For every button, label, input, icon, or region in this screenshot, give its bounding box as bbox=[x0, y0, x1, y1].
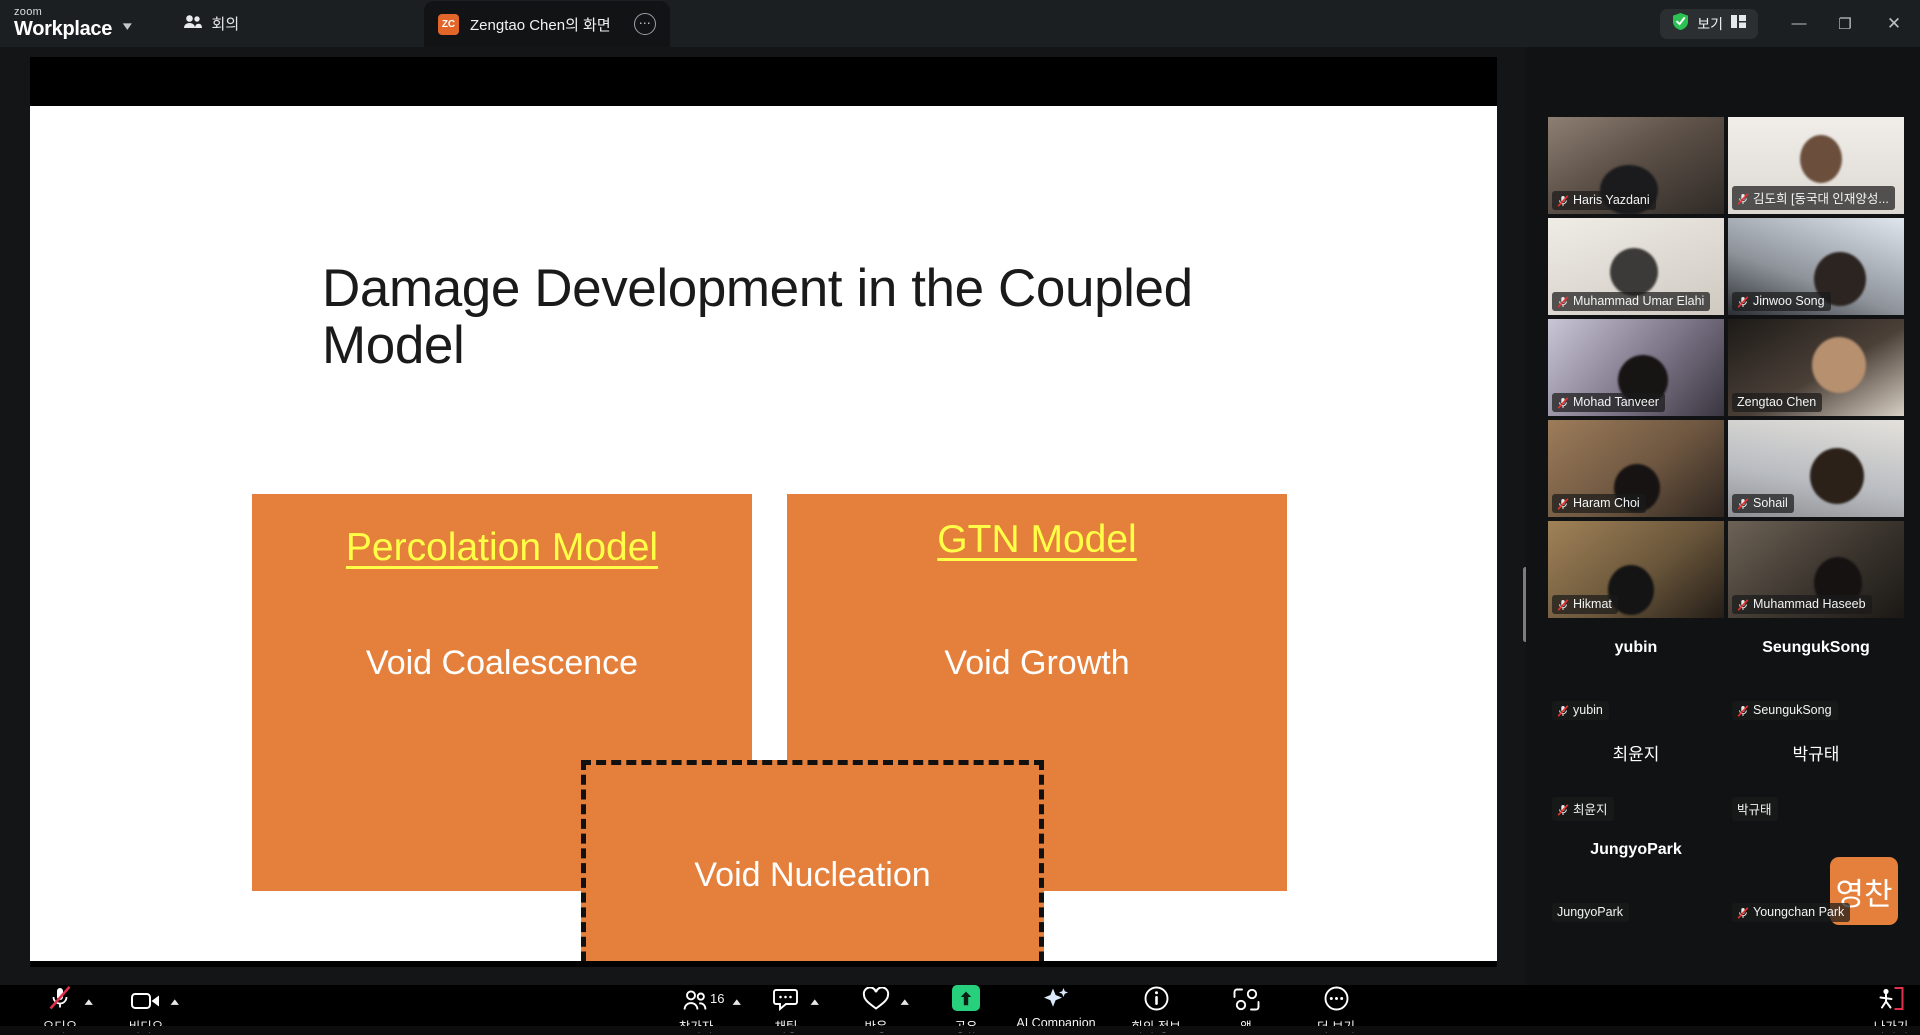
mic-muted-icon bbox=[1737, 295, 1749, 307]
toolbar-audio-chevron-up-icon[interactable]: ▴ bbox=[85, 995, 93, 1008]
participant-name: 박규태 bbox=[1737, 799, 1772, 818]
no-video-participant[interactable]: 영찬Youngchan Park bbox=[1728, 829, 1904, 926]
participant-name-badge: Muhammad Umar Elahi bbox=[1552, 292, 1710, 311]
mic-muted-icon bbox=[1737, 598, 1749, 610]
leave-door-icon bbox=[1877, 987, 1905, 1011]
participant-name: 최윤지 bbox=[1573, 799, 1608, 818]
mic-muted-icon bbox=[1737, 704, 1749, 716]
participant-name: 김도희 [동국대 인재양성... bbox=[1753, 188, 1889, 207]
video-tile[interactable]: Mohad Tanveer bbox=[1548, 319, 1724, 416]
toolbar-ai-companion-button[interactable]: AI Companion bbox=[1010, 987, 1102, 1030]
participant-silhouette bbox=[1610, 248, 1658, 296]
participant-name: Muhammad Umar Elahi bbox=[1573, 294, 1704, 308]
window-controls-group: 보기 — ❐ ✕ bbox=[1660, 0, 1920, 47]
mic-muted-icon bbox=[1557, 598, 1569, 610]
info-icon bbox=[1144, 987, 1169, 1011]
participant-name-badge: 최윤지 bbox=[1552, 797, 1614, 821]
participant-name-badge: Hikmat bbox=[1552, 595, 1618, 614]
participant-name-badge: Haram Choi bbox=[1552, 494, 1646, 513]
os-taskbar bbox=[0, 1026, 1920, 1032]
apps-icon bbox=[1233, 987, 1260, 1011]
percolation-model-heading: Percolation Model bbox=[346, 526, 658, 570]
view-label: 보기 bbox=[1697, 14, 1723, 34]
video-tile[interactable]: Hikmat bbox=[1548, 521, 1724, 618]
video-tile[interactable]: Muhammad Umar Elahi bbox=[1548, 218, 1724, 315]
video-tile[interactable]: Sohail bbox=[1728, 420, 1904, 517]
participant-name: Youngchan Park bbox=[1753, 905, 1844, 919]
video-tile[interactable]: 김도희 [동국대 인재양성... bbox=[1728, 117, 1904, 214]
participant-display-name: 박규태 bbox=[1793, 740, 1840, 765]
participant-name-badge: Youngchan Park bbox=[1732, 903, 1850, 922]
participant-name: Zengtao Chen bbox=[1737, 395, 1816, 409]
video-tile[interactable]: Muhammad Haseeb bbox=[1728, 521, 1904, 618]
no-video-participant[interactable]: yubinyubin bbox=[1548, 627, 1724, 724]
participant-name: Mohad Tanveer bbox=[1573, 395, 1659, 409]
participant-name-badge: 김도희 [동국대 인재양성... bbox=[1732, 186, 1895, 210]
share-screen-icon bbox=[952, 985, 980, 1011]
mic-muted-icon bbox=[1737, 497, 1749, 509]
participant-name-badge: Sohail bbox=[1732, 494, 1794, 513]
title-bar: zoom Workplace ▾ 회의 ZC Zengtao Chen의 화면 … bbox=[0, 0, 1920, 47]
video-tile-row: Haram ChoiSohail bbox=[1548, 420, 1904, 517]
toolbar-reactions-chevron-up-icon[interactable]: ▴ bbox=[901, 995, 909, 1008]
participant-name: Muhammad Haseeb bbox=[1753, 597, 1866, 611]
video-tile[interactable]: Zengtao Chen bbox=[1728, 319, 1904, 416]
participant-name: yubin bbox=[1573, 703, 1603, 717]
close-button[interactable]: ✕ bbox=[1868, 0, 1920, 47]
participant-video-panel: Haris Yazdani김도희 [동국대 인재양성...Muhammad Um… bbox=[1526, 47, 1920, 985]
participant-name-badge: yubin bbox=[1552, 701, 1609, 720]
tab-shared-screen[interactable]: ZC Zengtao Chen의 화면 ⋯ bbox=[424, 1, 670, 47]
chat-bubble-icon bbox=[773, 987, 799, 1011]
participant-name: JungyoPark bbox=[1557, 905, 1623, 919]
void-growth-label: Void Growth bbox=[944, 644, 1129, 683]
participant-silhouette bbox=[1812, 337, 1866, 393]
participant-name: Hikmat bbox=[1573, 597, 1612, 611]
participant-display-name: yubin bbox=[1615, 639, 1658, 657]
mic-muted-icon bbox=[1557, 194, 1569, 206]
presentation-slide: Damage Development in the Coupled Model … bbox=[30, 106, 1497, 961]
void-nucleation-label: Void Nucleation bbox=[694, 856, 930, 895]
people-icon bbox=[683, 987, 709, 1011]
no-video-participant[interactable]: SeungukSongSeungukSong bbox=[1728, 627, 1904, 724]
participant-display-name: JungyoPark bbox=[1590, 841, 1682, 859]
participant-name: SeungukSong bbox=[1753, 703, 1832, 717]
avatar: ZC bbox=[438, 14, 459, 35]
no-video-row: yubinyubinSeungukSongSeungukSong bbox=[1548, 627, 1904, 724]
toolbar-chat-chevron-up-icon[interactable]: ▴ bbox=[811, 995, 819, 1008]
ellipsis-icon bbox=[1324, 987, 1349, 1011]
meetings-tab[interactable]: 회의 bbox=[183, 13, 240, 34]
mic-muted-icon bbox=[1557, 396, 1569, 408]
gtn-model-heading: GTN Model bbox=[937, 518, 1136, 562]
view-button[interactable]: 보기 bbox=[1660, 9, 1758, 39]
mic-muted-icon bbox=[1737, 192, 1749, 204]
mic-muted-icon bbox=[47, 987, 73, 1011]
heart-icon bbox=[862, 987, 890, 1011]
video-tile[interactable]: Jinwoo Song bbox=[1728, 218, 1904, 315]
participant-name: Sohail bbox=[1753, 496, 1788, 510]
mic-muted-icon bbox=[1737, 906, 1749, 918]
void-coalescence-label: Void Coalescence bbox=[366, 644, 638, 683]
participant-name: Haris Yazdani bbox=[1573, 193, 1650, 207]
video-tile[interactable]: Haris Yazdani bbox=[1548, 117, 1724, 214]
maximize-button[interactable]: ❐ bbox=[1822, 0, 1868, 47]
participant-name-badge: JungyoPark bbox=[1552, 903, 1629, 922]
meeting-toolbar: 오디오▴비디오▴참가자16▴채팅▴반응▴공유AI Companion회의 정보앱… bbox=[0, 985, 1920, 1032]
participant-name-badge: Mohad Tanveer bbox=[1552, 393, 1665, 412]
no-video-row: 최윤지최윤지박규태박규태 bbox=[1548, 728, 1904, 825]
participants-count: 16 bbox=[710, 991, 724, 1006]
video-tile-row: HikmatMuhammad Haseeb bbox=[1548, 521, 1904, 618]
participant-silhouette bbox=[1810, 448, 1864, 504]
toolbar-video-chevron-up-icon[interactable]: ▴ bbox=[171, 995, 179, 1008]
mic-muted-icon bbox=[1557, 704, 1569, 716]
ellipsis-icon[interactable]: ⋯ bbox=[634, 13, 656, 35]
shared-screen-area[interactable]: Damage Development in the Coupled Model … bbox=[30, 57, 1497, 967]
participant-name-badge: Zengtao Chen bbox=[1732, 393, 1822, 412]
video-tile[interactable]: Haram Choi bbox=[1548, 420, 1724, 517]
void-nucleation-box: Void Nucleation bbox=[581, 760, 1044, 961]
meetings-label: 회의 bbox=[212, 13, 240, 34]
no-video-participant[interactable]: 최윤지최윤지 bbox=[1548, 728, 1724, 825]
zoom-logo-bottom: Workplace bbox=[14, 19, 110, 40]
mic-muted-icon bbox=[1557, 295, 1569, 307]
participant-name-badge: Muhammad Haseeb bbox=[1732, 595, 1872, 614]
layout-icon bbox=[1731, 15, 1746, 33]
participant-name-badge: 박규태 bbox=[1732, 797, 1778, 821]
share-screen-icon bbox=[952, 987, 980, 1011]
sparkle-icon bbox=[1042, 987, 1070, 1011]
minimize-button[interactable]: — bbox=[1776, 0, 1822, 47]
people-icon bbox=[183, 14, 203, 34]
participant-name-badge: SeungukSong bbox=[1732, 701, 1838, 720]
participant-display-name: 최윤지 bbox=[1613, 740, 1660, 765]
green-shield-icon bbox=[1672, 12, 1689, 36]
participant-silhouette bbox=[1800, 135, 1842, 183]
participant-name: Haram Choi bbox=[1573, 496, 1640, 510]
no-video-participant-grid: yubinyubinSeungukSongSeungukSong최윤지최윤지박규… bbox=[1548, 627, 1904, 930]
participant-name-badge: Haris Yazdani bbox=[1552, 191, 1656, 210]
page-title: Damage Development in the Coupled Model bbox=[322, 261, 1222, 374]
participant-name-badge: Jinwoo Song bbox=[1732, 292, 1831, 311]
participant-display-name: SeungukSong bbox=[1762, 639, 1870, 657]
no-video-participant[interactable]: 박규태박규태 bbox=[1728, 728, 1904, 825]
mic-muted-icon bbox=[1557, 803, 1569, 815]
zoom-logo[interactable]: zoom Workplace bbox=[14, 7, 110, 40]
no-video-row: JungyoParkJungyoPark영찬Youngchan Park bbox=[1548, 829, 1904, 926]
participant-name: Jinwoo Song bbox=[1753, 294, 1825, 308]
video-tile-grid: Haris Yazdani김도희 [동국대 인재양성...Muhammad Um… bbox=[1548, 117, 1904, 622]
no-video-participant[interactable]: JungyoParkJungyoPark bbox=[1548, 829, 1724, 926]
camera-icon bbox=[131, 987, 161, 1011]
video-tile-row: Mohad TanveerZengtao Chen bbox=[1548, 319, 1904, 416]
mic-muted-icon bbox=[1557, 497, 1569, 509]
tab-title: Zengtao Chen의 화면 bbox=[470, 14, 623, 35]
video-tile-row: Muhammad Umar ElahiJinwoo Song bbox=[1548, 218, 1904, 315]
chevron-down-icon[interactable]: ▾ bbox=[123, 18, 132, 34]
video-tile-row: Haris Yazdani김도희 [동국대 인재양성... bbox=[1548, 117, 1904, 214]
